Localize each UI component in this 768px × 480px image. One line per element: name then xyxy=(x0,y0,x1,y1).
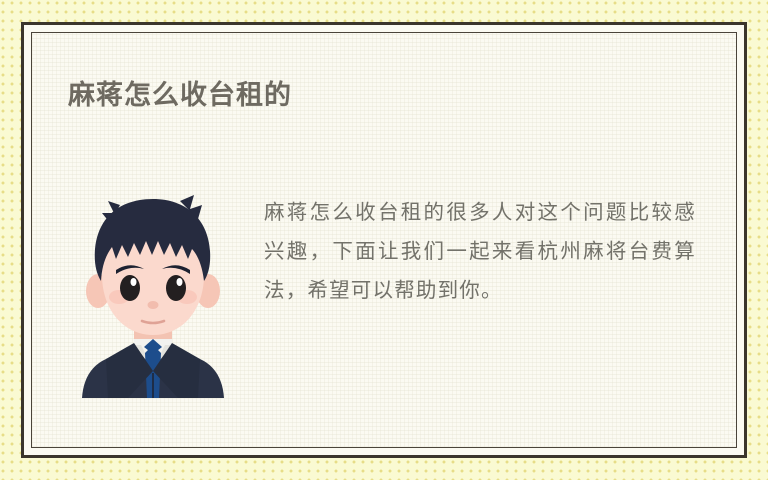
page-title: 麻蒋怎么收台租的 xyxy=(68,73,292,112)
article-content-row: 麻蒋怎么收台租的很多人对这个问题比较感兴趣，下面让我们一起来看杭州麻将台费算法，… xyxy=(32,193,736,398)
article-body-text: 麻蒋怎么收台租的很多人对这个问题比较感兴趣，下面让我们一起来看杭州麻将台费算法，… xyxy=(264,193,696,310)
young-man-in-suit-illustration xyxy=(68,193,238,398)
article-card-outer-frame: 麻蒋怎么收台租的 xyxy=(21,22,747,458)
page-background: 麻蒋怎么收台租的 xyxy=(0,0,768,480)
avatar xyxy=(68,193,238,398)
article-card-inner: 麻蒋怎么收台租的 xyxy=(31,32,737,448)
